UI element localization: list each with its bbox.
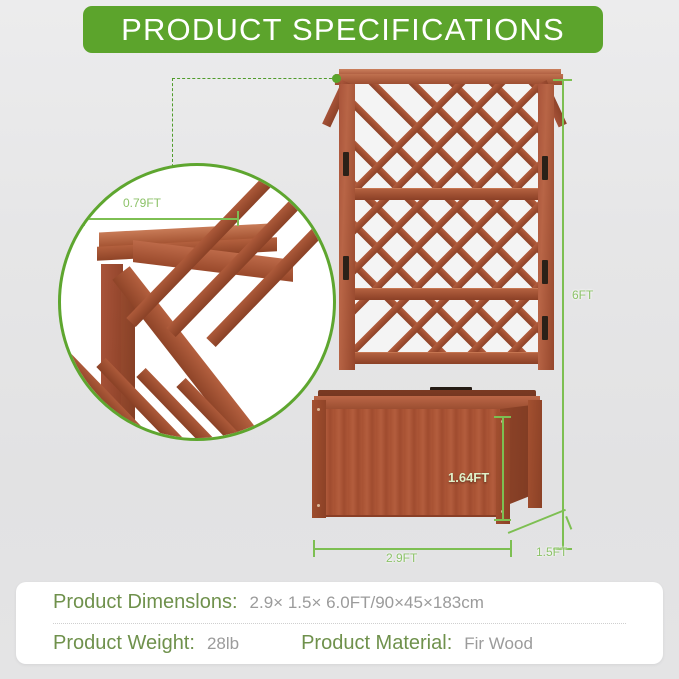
- box-rim: [314, 396, 540, 409]
- dim-label-height: 6FT: [572, 288, 593, 302]
- specification-table: Product Dimenslons: 2.9× 1.5× 6.0FT/90×4…: [16, 582, 663, 664]
- trellis-rail-bottom: [347, 352, 543, 364]
- trellis-panel: [347, 84, 543, 356]
- dim-line-box-height: [502, 416, 504, 520]
- trellis-post-left: [339, 84, 355, 370]
- dim-line-detail-width: [83, 218, 238, 220]
- trellis-rail-upper: [347, 188, 543, 200]
- dim-line-width: [313, 548, 511, 550]
- callout-line-horizontal: [172, 78, 337, 79]
- specification-page: PRODUCT SPECIFICATIONS: [0, 0, 679, 679]
- spec-value-dimensions: 2.9× 1.5× 6.0FT/90×45×183cm: [250, 593, 484, 613]
- page-title: PRODUCT SPECIFICATIONS: [121, 12, 565, 48]
- trellis-rail-lower: [347, 288, 543, 300]
- header-banner: PRODUCT SPECIFICATIONS: [83, 6, 603, 53]
- hinge-right-bottom: [542, 316, 548, 340]
- dim-line-height: [562, 79, 564, 549]
- table-row: Product Weight: 28lb Product Material: F…: [16, 623, 663, 664]
- spec-label-weight: Product Weight:: [53, 632, 195, 655]
- magnifier-content: [61, 166, 333, 438]
- hinge-right-upper: [542, 156, 548, 180]
- hinge-left-upper: [343, 152, 349, 176]
- spec-label-material: Product Material:: [301, 632, 452, 655]
- dim-label-box-height: 1.64FT: [448, 470, 489, 485]
- box-front-panel: [320, 409, 500, 517]
- table-row: Product Dimenslons: 2.9× 1.5× 6.0FT/90×4…: [16, 582, 663, 623]
- dim-label-depth: 1.5FT: [536, 545, 567, 559]
- hinge-right-lower: [542, 260, 548, 284]
- magnifier-inset: 0.79FT: [58, 163, 336, 441]
- dim-label-detail-width: 0.79FT: [123, 196, 161, 210]
- spec-value-weight: 28lb: [207, 634, 239, 654]
- box-leg-back-right: [528, 400, 542, 508]
- spec-value-material: Fir Wood: [464, 634, 533, 654]
- hinge-left-lower: [343, 256, 349, 280]
- spec-label-dimensions: Product Dimenslons:: [53, 591, 238, 614]
- dim-label-width: 2.9FT: [386, 551, 417, 565]
- callout-anchor-dot: [332, 74, 341, 83]
